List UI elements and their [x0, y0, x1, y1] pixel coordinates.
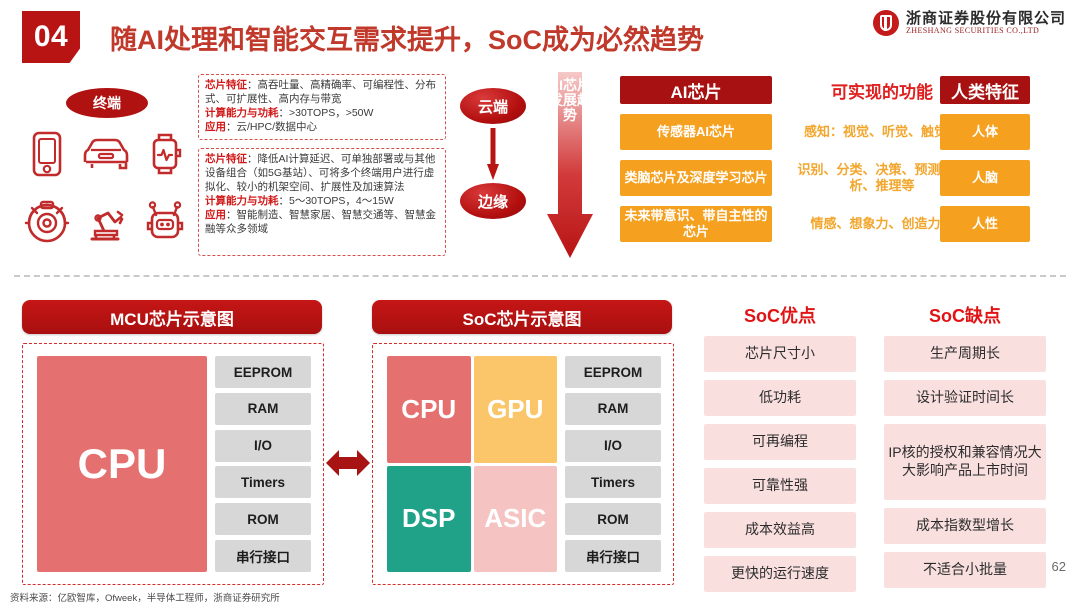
- peripheral-item: 串行接口: [215, 540, 311, 572]
- spec-line: 芯片特征：降低AI计算延迟、可单独部署或与其他设备组合（如5G基站）、可将多个终…: [205, 153, 439, 195]
- section-divider: [14, 275, 1066, 277]
- cloud-node: 云端: [460, 88, 526, 124]
- pros-item: 低功耗: [704, 380, 856, 416]
- spec-line: 计算能力与功耗：5～30TOPS，4～15W: [205, 195, 439, 209]
- peripheral-item: ROM: [565, 503, 661, 535]
- peripheral-item: I/O: [565, 430, 661, 462]
- soc-cons-column: SoC缺点 生产周期长 设计验证时间长 IP核的授权和兼容情况大大影响产品上市时…: [884, 302, 1046, 588]
- soc-dsp-block: DSP: [387, 466, 471, 573]
- cons-item: 成本指数型增长: [884, 508, 1046, 544]
- pros-item: 可再编程: [704, 424, 856, 460]
- terminal-group: 终端: [18, 88, 194, 258]
- spec-line: 应用：云/HPC/数据中心: [205, 121, 439, 135]
- slide-header: 04 随AI处理和智能交互需求提升，SoC成为必然趋势 浙商证券股份有限公司 Z…: [0, 0, 1080, 66]
- zheshang-logo-icon: [873, 10, 899, 36]
- logo-company-name-en: ZHESHANG SECURITIES CO.,LTD: [906, 27, 1066, 35]
- peripheral-item: RAM: [215, 393, 311, 425]
- mcu-cpu-block: CPU: [37, 356, 207, 572]
- cons-item: 不适合小批量: [884, 552, 1046, 588]
- pros-item: 可靠性强: [704, 468, 856, 504]
- logo-company-name-cn: 浙商证券股份有限公司: [906, 11, 1066, 27]
- trend-arrow-group: AI芯片发展趋势: [545, 72, 595, 258]
- spec-box-cloud: 芯片特征：高吞吐量、高精确率、可编程性、分布式、可扩展性、高内存与带宽 计算能力…: [198, 74, 446, 140]
- smartwatch-icon: [135, 120, 194, 188]
- soc-core-grid: CPU GPU DSP ASIC: [387, 356, 557, 572]
- soc-diagram: CPU GPU DSP ASIC EEPROM RAM I/O Timers R…: [372, 343, 674, 585]
- peripheral-item: I/O: [215, 430, 311, 462]
- spec-line: 应用：智能制造、智慧家居、智慧交通等、智慧金融等众多领域: [205, 209, 439, 237]
- section-number-badge: 04: [22, 11, 80, 63]
- pros-item: 芯片尺寸小: [704, 336, 856, 372]
- mcu-caption: MCU芯片示意图: [22, 300, 322, 334]
- company-logo: 浙商证券股份有限公司 ZHESHANG SECURITIES CO.,LTD: [873, 10, 1066, 36]
- peripheral-item: Timers: [565, 466, 661, 498]
- peripheral-item: 串行接口: [565, 540, 661, 572]
- soc-cons-title: SoC缺点: [884, 302, 1046, 328]
- trend-label: AI芯片发展趋势: [545, 78, 595, 123]
- terminal-icon-grid: [18, 120, 194, 256]
- double-arrow-icon: [326, 447, 370, 479]
- down-arrow-icon: [487, 128, 499, 180]
- spec-box-edge: 芯片特征：降低AI计算延迟、可单独部署或与其他设备组合（如5G基站）、可将多个终…: [198, 148, 446, 256]
- edge-node: 边缘: [460, 183, 526, 219]
- peripheral-item: EEPROM: [215, 356, 311, 388]
- peripheral-item: EEPROM: [565, 356, 661, 388]
- pros-item: 更快的运行速度: [704, 556, 856, 592]
- peripheral-item: Timers: [215, 466, 311, 498]
- matrix-cell-human: 人性: [940, 206, 1030, 242]
- slide-root: 04 随AI处理和智能交互需求提升，SoC成为必然趋势 浙商证券股份有限公司 Z…: [0, 0, 1080, 608]
- terminal-label: 终端: [66, 88, 148, 118]
- soc-peripheral-list: EEPROM RAM I/O Timers ROM 串行接口: [565, 356, 661, 572]
- matrix-cell-chip: 类脑芯片及深度学习芯片: [620, 160, 772, 196]
- robot-head-icon: [135, 188, 194, 256]
- source-note: 资料来源：亿欧智库，Ofweek，半导体工程师，浙商证券研究所: [10, 590, 280, 604]
- page-number: 62: [1052, 559, 1066, 574]
- soc-pros-title: SoC优点: [704, 302, 856, 328]
- spec-line: 计算能力与功耗：>30TOPS，>50W: [205, 107, 439, 121]
- soc-caption: SoC芯片示意图: [372, 300, 672, 334]
- cons-item: 设计验证时间长: [884, 380, 1046, 416]
- matrix-cell-human: 人体: [940, 114, 1030, 150]
- matrix-header-chips: AI芯片: [620, 76, 772, 104]
- matrix-header-human: 人类特征: [940, 76, 1030, 104]
- cons-item: IP核的授权和兼容情况大大影响产品上市时间: [884, 424, 1046, 500]
- smartphone-icon: [18, 120, 77, 188]
- robot-arm-icon: [77, 188, 136, 256]
- cons-item: 生产周期长: [884, 336, 1046, 372]
- matrix-cell-chip: 传感器AI芯片: [620, 114, 772, 150]
- matrix-cell-chip: 未来带意识、带自主性的芯片: [620, 206, 772, 242]
- pros-item: 成本效益高: [704, 512, 856, 548]
- soc-pros-column: SoC优点 芯片尺寸小 低功耗 可再编程 可靠性强 成本效益高 更快的运行速度: [704, 302, 856, 592]
- mcu-peripheral-list: EEPROM RAM I/O Timers ROM 串行接口: [215, 356, 311, 572]
- page-title: 随AI处理和智能交互需求提升，SoC成为必然趋势: [110, 16, 704, 58]
- spec-line: 芯片特征：高吞吐量、高精确率、可编程性、分布式、可扩展性、高内存与带宽: [205, 79, 439, 107]
- robot-vacuum-icon: [18, 188, 77, 256]
- peripheral-item: RAM: [565, 393, 661, 425]
- soc-gpu-block: GPU: [474, 356, 558, 463]
- soc-asic-block: ASIC: [474, 466, 558, 573]
- car-icon: [77, 120, 136, 188]
- matrix-column-human: 人类特征 人体 人脑 人性: [940, 76, 1030, 242]
- peripheral-item: ROM: [215, 503, 311, 535]
- soc-cpu-block: CPU: [387, 356, 471, 463]
- mcu-diagram: CPU EEPROM RAM I/O Timers ROM 串行接口: [22, 343, 324, 585]
- matrix-column-chips: AI芯片 传感器AI芯片 类脑芯片及深度学习芯片 未来带意识、带自主性的芯片: [620, 76, 772, 242]
- matrix-cell-human: 人脑: [940, 160, 1030, 196]
